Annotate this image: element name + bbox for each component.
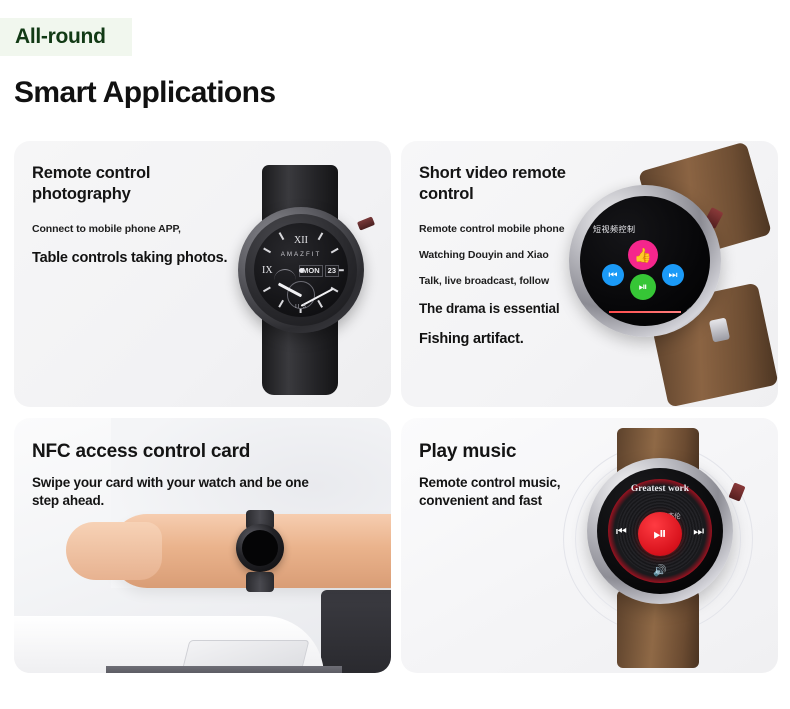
card-line: Remote control music, convenient and fas… [419, 474, 604, 509]
volume-high-icon: 🔊 [685, 308, 694, 316]
watch-gauge-subdial [274, 269, 296, 283]
wrist-watch-graphic [236, 514, 284, 590]
terminal-pillar [106, 666, 342, 673]
watch-numeral-9: IX [262, 265, 273, 276]
page-title: Smart Applications [14, 76, 275, 110]
screen-title-label: 短视频控制 [593, 224, 636, 235]
card-copy-1: Remote control photography Connect to mo… [32, 163, 247, 268]
card-copy-4: Play music Remote control music, conveni… [419, 440, 604, 509]
watch-numeral-12: XII [254, 235, 348, 246]
card-title: Remote control photography [32, 163, 247, 205]
previous-track-icon[interactable]: ⏮ [616, 524, 627, 539]
watch-case: XII IX AMAZFIT MON 23 [238, 207, 364, 333]
feature-card-short-video-remote-control[interactable]: Short video remote control Remote contro… [401, 141, 778, 407]
watch-date-number: 23 [325, 265, 339, 277]
watch-date-window: MON 23 [299, 265, 339, 277]
feature-card-grid: Remote control photography Connect to mo… [14, 141, 778, 673]
card-line: Table controls taking photos. [32, 249, 247, 268]
next-track-icon[interactable]: ⏭ [693, 524, 704, 539]
card-title: Short video remote control [419, 163, 599, 205]
previous-track-icon[interactable]: ⏮ [602, 264, 624, 286]
next-track-icon[interactable]: ⏭ [662, 264, 684, 286]
watch-case: Greatest work 周杰伦 ⏮ ⏯ ⏭ 🔊 [587, 458, 733, 604]
card-copy-3: NFC access control card Swipe your card … [32, 440, 322, 509]
watch-screen: Greatest work 周杰伦 ⏮ ⏯ ⏭ 🔊 [597, 468, 723, 594]
thumbs-up-icon[interactable]: 👍 [628, 240, 658, 270]
play-pause-icon[interactable]: ⏯ [630, 274, 656, 300]
feature-card-play-music[interactable]: Play music Remote control music, conveni… [401, 418, 778, 673]
watch-crown [357, 216, 375, 230]
watch-brand-label: AMAZFIT [254, 251, 348, 258]
watch-dial: XII IX AMAZFIT MON 23 [254, 223, 348, 317]
card-line: Fishing artifact. [419, 330, 599, 349]
hand-graphic [66, 522, 162, 580]
card-copy-2: Short video remote control Remote contro… [419, 163, 599, 349]
watch-face [236, 524, 284, 572]
feature-card-nfc-access-control[interactable]: NFC access control card Swipe your card … [14, 418, 391, 673]
card-line: Watching Douyin and Xiao [419, 249, 599, 263]
feature-card-remote-control-photography[interactable]: Remote control photography Connect to mo… [14, 141, 391, 407]
watch-bezel: XII IX AMAZFIT MON 23 [245, 214, 357, 326]
card-line: The drama is essential [419, 300, 599, 318]
watch-strap-bottom [246, 572, 274, 592]
card-title: NFC access control card [32, 440, 322, 464]
volume-track[interactable] [609, 311, 682, 313]
card-line: Connect to mobile phone APP, [32, 223, 247, 237]
smart-applications-page: All-round Smart Applications Remote cont… [0, 0, 790, 709]
card-title: Play music [419, 440, 604, 464]
watch-center-pin [299, 268, 304, 273]
card-line: Talk, live broadcast, follow [419, 275, 599, 289]
play-pause-icon[interactable]: ⏯ [638, 512, 682, 556]
eyebrow-banner: All-round [0, 18, 132, 56]
card-line: Remote control mobile phone [419, 223, 599, 237]
volume-slider[interactable]: 🔈 🔊 [596, 308, 694, 316]
watch-bottom-mark: II 3 [254, 304, 348, 310]
eyebrow-label: All-round [0, 25, 106, 49]
volume-icon[interactable]: 🔊 [597, 564, 723, 577]
watch-screen: 短视频控制 👍 ⏮ ⏭ ⏯ 🔈 🔊 [580, 196, 710, 326]
card-line: Swipe your card with your watch and be o… [32, 474, 322, 509]
scene-dark-panel [321, 590, 391, 673]
song-title-label: Greatest work [597, 484, 723, 496]
